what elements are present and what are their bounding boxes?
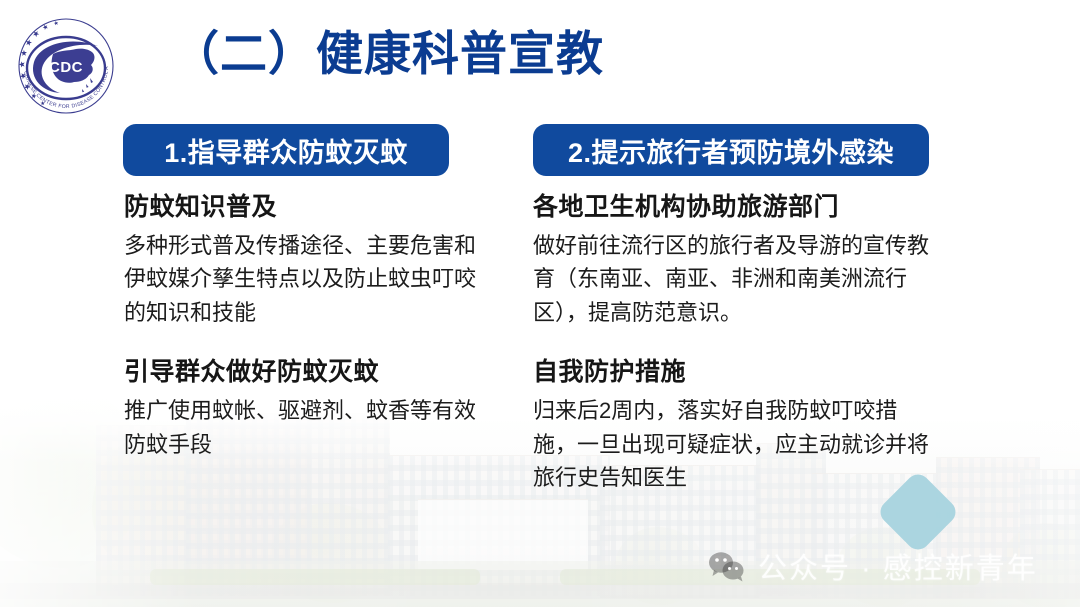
block-body: 推广使用蚊帐、驱避剂、蚊香等有效防蚊手段	[124, 394, 484, 461]
photo-hedge	[560, 569, 980, 585]
china-cdc-logo: CDC CHINESE CENTER FOR DISEASE CONTROL A…	[10, 10, 122, 120]
block-body: 多种形式普及传播途径、主要危害和伊蚊媒介孳生特点以及防止蚊虫叮咬的知识和技能	[124, 229, 484, 329]
section-badge-2[interactable]: 2.提示旅行者预防境外感染	[533, 124, 929, 176]
page-title: （二）健康科普宣教	[172, 26, 604, 81]
photo-tree	[270, 503, 390, 603]
photo-road	[0, 583, 1080, 599]
watermark: 公众号 · 感控新青年	[708, 545, 1038, 587]
wechat-icon	[708, 550, 746, 582]
content-column-right: 各地卫生机构协助旅游部门 做好前往流行区的旅行者及导游的宣传教育（东南亚、南亚、…	[533, 190, 933, 495]
section-badge-1[interactable]: 1.指导群众防蚊灭蚊	[123, 124, 449, 176]
watermark-text: 公众号 · 感控新青年	[758, 545, 1038, 587]
content-column-left: 防蚊知识普及 多种形式普及传播途径、主要危害和伊蚊媒介孳生特点以及防止蚊虫叮咬的…	[124, 190, 484, 461]
block-body: 做好前往流行区的旅行者及导游的宣传教育（东南亚、南亚、非洲和南美洲流行区），提高…	[533, 229, 933, 329]
block-body: 归来后2周内，落实好自我防蚊叮咬措施，一旦出现可疑症状，应主动就诊并将旅行史告知…	[533, 394, 933, 494]
photo-hedge	[150, 569, 480, 585]
photo-building-facade	[418, 499, 588, 570]
photo-building	[936, 457, 1040, 598]
content-block: 自我防护措施 归来后2周内，落实好自我防蚊叮咬措施，一旦出现可疑症状，应主动就诊…	[533, 355, 933, 494]
content-block: 防蚊知识普及 多种形式普及传播途径、主要危害和伊蚊媒介孳生特点以及防止蚊虫叮咬的…	[124, 190, 484, 329]
svg-text:CDC: CDC	[49, 59, 83, 76]
block-heading: 防蚊知识普及	[124, 190, 484, 224]
photo-tree	[614, 527, 704, 605]
photo-building	[1020, 469, 1080, 598]
content-block: 引导群众做好防蚊灭蚊 推广使用蚊帐、驱避剂、蚊香等有效防蚊手段	[124, 355, 484, 461]
content-block: 各地卫生机构协助旅游部门 做好前往流行区的旅行者及导游的宣传教育（东南亚、南亚、…	[533, 190, 933, 329]
slide-canvas: CDC CHINESE CENTER FOR DISEASE CONTROL A…	[0, 0, 1080, 607]
block-heading: 自我防护措施	[533, 355, 933, 389]
photo-tree	[1000, 523, 1080, 607]
block-heading: 引导群众做好防蚊灭蚊	[124, 355, 484, 389]
photo-ground	[0, 561, 1080, 607]
block-heading: 各地卫生机构协助旅游部门	[533, 190, 933, 224]
